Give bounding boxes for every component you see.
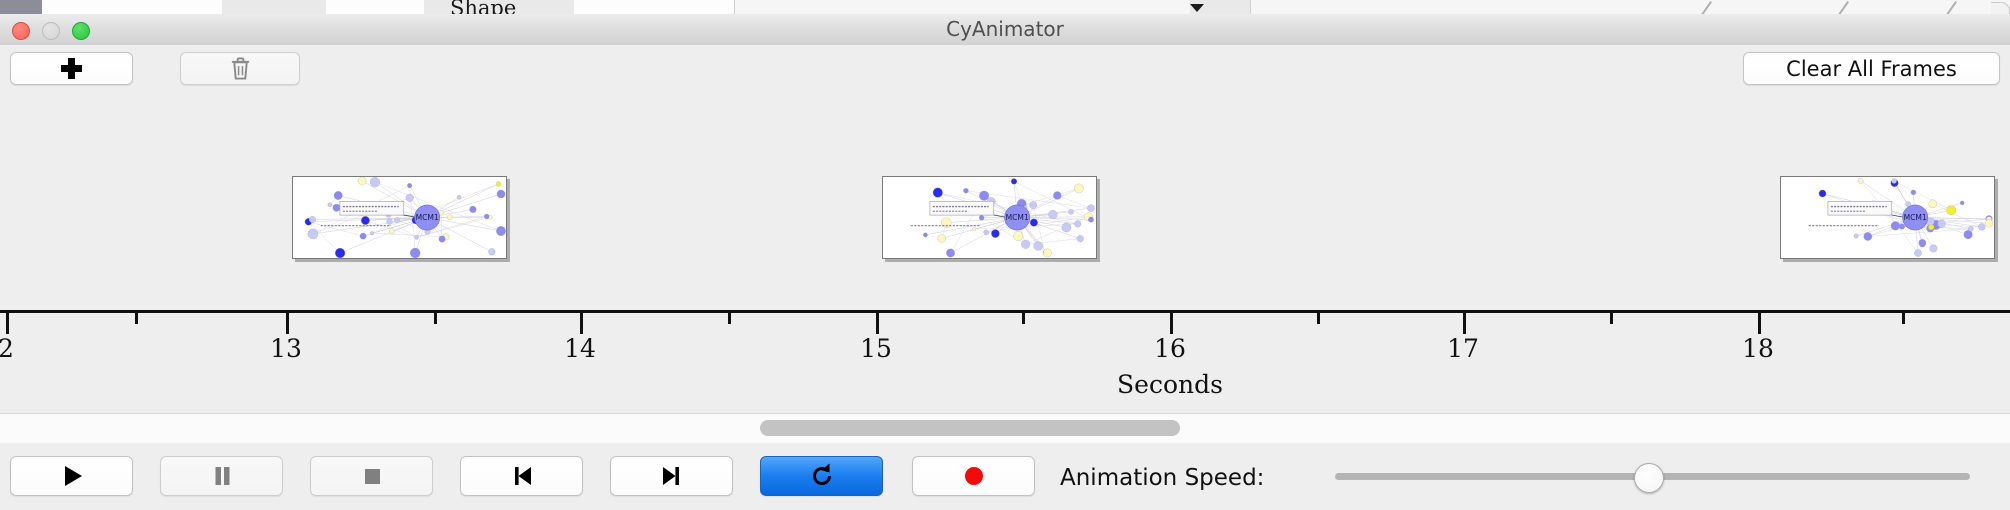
axis-tick-minor xyxy=(434,313,437,324)
bg-chunk xyxy=(42,0,223,14)
skip-forward-icon xyxy=(657,461,687,491)
bg-chunk xyxy=(0,0,43,14)
axis-tick-minor xyxy=(1022,313,1025,324)
axis-tick-label: 15 xyxy=(860,334,892,363)
bg-slash-icon xyxy=(1945,1,1957,15)
axis-tick-major xyxy=(1463,313,1466,334)
axis-tick-minor xyxy=(1902,313,1905,324)
svg-text:MCM1: MCM1 xyxy=(1904,213,1927,222)
scrollbar-thumb[interactable] xyxy=(760,420,1180,436)
axis-tick-major xyxy=(6,313,9,334)
axis-tick-major xyxy=(1758,313,1761,334)
record-button[interactable] xyxy=(912,456,1035,496)
bg-window-label: Shape xyxy=(450,0,516,15)
play-button[interactable] xyxy=(10,456,133,496)
playback-control-bar: Animation Speed: xyxy=(0,443,2010,510)
loop-button[interactable] xyxy=(760,456,883,496)
frame-toolbar: Clear All Frames xyxy=(0,45,2010,89)
axis-tick-major xyxy=(876,313,879,334)
axis-tick-label: 13 xyxy=(270,334,302,363)
svg-text:MCM1: MCM1 xyxy=(416,213,439,222)
timeline-frame-thumbnail[interactable]: MCM1 xyxy=(882,176,1097,259)
axis-tick-label: 17 xyxy=(1447,334,1479,363)
axis-tick-major xyxy=(286,313,289,334)
timeline-axis xyxy=(0,310,2010,313)
bg-chunk xyxy=(326,0,425,14)
clear-all-frames-button[interactable]: Clear All Frames xyxy=(1743,52,2000,85)
skip-back-icon xyxy=(507,461,537,491)
skip-start-button[interactable] xyxy=(460,456,583,496)
bg-slash-icon xyxy=(1700,1,1712,15)
axis-tick-major xyxy=(580,313,583,334)
add-frame-button[interactable] xyxy=(10,52,133,85)
bg-slash-icon xyxy=(1837,1,1849,15)
axis-tick-label: 16 xyxy=(1154,334,1186,363)
axis-tick-minor xyxy=(728,313,731,324)
trash-icon xyxy=(229,56,252,81)
pause-icon xyxy=(207,461,237,491)
skip-end-button[interactable] xyxy=(610,456,733,496)
axis-tick-minor xyxy=(135,313,138,324)
svg-text:MCM1: MCM1 xyxy=(1006,213,1029,222)
window-title: CyAnimator xyxy=(0,14,2010,45)
bg-chunk xyxy=(222,0,327,14)
axis-tick-minor xyxy=(1610,313,1613,324)
axis-tick-minor xyxy=(1317,313,1320,324)
animation-speed-label: Animation Speed: xyxy=(1060,465,1264,491)
play-icon xyxy=(57,461,87,491)
axis-tick-label: 14 xyxy=(564,334,596,363)
record-icon xyxy=(959,461,989,491)
animation-speed-slider-knob[interactable] xyxy=(1634,463,1664,493)
delete-frame-button[interactable] xyxy=(180,52,300,85)
timeline-frame-thumbnail[interactable]: MCM1 xyxy=(292,176,507,259)
pause-button[interactable] xyxy=(160,456,283,496)
cyanimator-window: Shape CyAnimator Clear All Frames MCM1MC… xyxy=(0,0,2010,510)
axis-title: Seconds xyxy=(1117,370,1223,399)
stop-button[interactable] xyxy=(310,456,433,496)
timeline-panel[interactable]: MCM1MCM1MCM1 2131415161718 Seconds xyxy=(0,88,2010,413)
bg-chunk xyxy=(574,0,735,14)
title-bar: CyAnimator xyxy=(0,14,2010,46)
stop-icon xyxy=(357,461,387,491)
axis-tick-label: 2 xyxy=(0,334,14,363)
plus-icon xyxy=(61,58,82,79)
background-window-strip: Shape xyxy=(0,0,2010,15)
bg-caret-icon xyxy=(1190,4,1204,12)
axis-tick-label: 18 xyxy=(1742,334,1774,363)
axis-tick-major xyxy=(1170,313,1173,334)
timeline-frame-thumbnail[interactable]: MCM1 xyxy=(1780,176,1995,259)
timeline-scrollbar[interactable] xyxy=(0,413,2010,444)
loop-icon xyxy=(807,461,837,491)
